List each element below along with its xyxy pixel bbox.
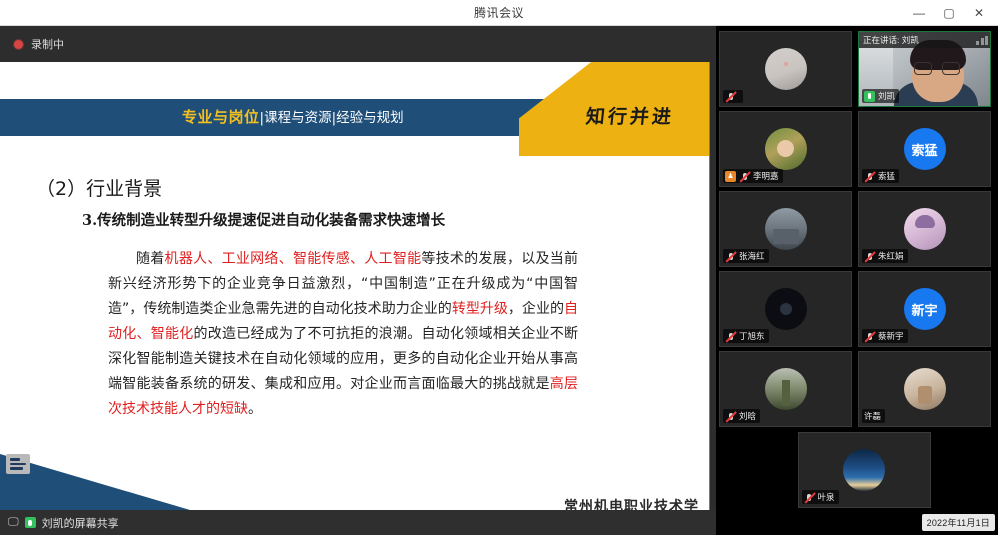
slide-banner-text: 专业与岗位|课程与资源|经验与规划 [182,106,404,127]
participant-tile[interactable]: 叶泉 [798,432,931,508]
close-button[interactable]: ✕ [964,0,994,26]
glasses-icon [914,62,960,75]
slide-paragraph: 随着机器人、工业网络、智能传感、人工智能等技术的发展，以及当前新兴经济形势下的企… [108,247,578,422]
participant-gallery: 正在讲话: 刘凯刘凯♟李明嘉索猛索猛张海红朱红娟丁旭东新宇蔡新宇刘晗许磊叶泉 2… [716,26,998,535]
participant-name: 叶泉 [818,491,835,503]
screen-share-icon: 🖵 [8,516,19,529]
shared-screen-area: 录制中 专业与岗位|课程与资源|经验与规划 知行并进 （2）行业背景 3.传统制… [0,26,716,535]
maximize-button[interactable]: ▢ [934,0,964,26]
slide-heading: （2）行业背景 [36,174,162,201]
avatar [904,208,946,250]
presentation-slide: 专业与岗位|课程与资源|经验与规划 知行并进 （2）行业背景 3.传统制造业转型… [0,62,710,510]
screen-share-owner-label: 刘凯的屏幕共享 [42,515,119,531]
host-badge-icon: ♟ [725,171,736,182]
participant-name-chip: 丁旭东 [723,329,769,343]
participant-name-chip: 刘凯 [862,89,899,103]
participant-name-chip: 叶泉 [802,490,839,504]
participant-tile[interactable] [719,31,852,107]
participant-name: 张海红 [739,250,765,262]
slide-text-run: 随着 [136,251,165,267]
recording-indicator-icon [14,40,23,49]
participant-tile[interactable]: 正在讲话: 刘凯刘凯 [858,31,991,107]
mic-on-icon [864,91,875,102]
tencent-meeting-window: 腾讯会议 — ▢ ✕ 录制中 专业与岗位|课程与资源|经验与规划 知行并进 （2… [0,0,998,535]
mic-muted-icon [804,492,815,503]
participant-name-chip: 许磊 [862,409,885,423]
avatar: 新宇 [904,288,946,330]
date-chip: 2022年11月1日 [922,514,995,531]
banner-rest-text: |课程与资源|经验与规划 [260,110,404,126]
participant-name-chip: ♟李明嘉 [723,169,783,183]
mic-muted-icon [864,251,875,262]
logo-text: 常州机电职业技术学院 CHANGZHOU VOCATIONAL INSTITUT… [564,496,709,510]
avatar: 索猛 [904,128,946,170]
participant-name-chip: 刘晗 [723,409,760,423]
mic-muted-icon [725,411,736,422]
mic-muted-icon [739,171,750,182]
slide-text-run: 。 [248,401,262,417]
window-controls: — ▢ ✕ [904,0,994,26]
participant-name-chip: 蔡新宇 [862,329,908,343]
mic-muted-icon [725,251,736,262]
screen-share-status-bar: 🖵 刘凯的屏幕共享 [0,510,716,535]
participant-tile[interactable]: 刘晗 [719,351,852,427]
participant-name: 许磊 [864,410,881,422]
avatar [765,48,807,90]
slide-text-highlight: 转型升级 [452,301,508,317]
active-speaker-label: 正在讲话: 刘凯 [863,34,919,46]
recording-label: 录制中 [31,36,64,52]
participant-name-chip: 朱红娟 [862,249,908,263]
mic-muted-icon [725,91,736,102]
network-signal-icon [976,36,988,45]
slide-text-highlight: 机器人、工业网络、智能传感、人工智能 [165,251,422,267]
avatar [843,449,885,491]
participant-tile[interactable]: ♟李明嘉 [719,111,852,187]
participant-name-chip: 索猛 [862,169,899,183]
recording-bar: 录制中 [0,26,716,62]
participant-tile[interactable]: 新宇蔡新宇 [858,271,991,347]
window-title: 腾讯会议 [474,4,524,21]
avatar [765,128,807,170]
logo-chinese-name: 常州机电职业技术学院 [564,496,709,510]
slide-text-run: ，企业的 [508,301,564,317]
banner-highlight-text: 专业与岗位 [182,108,260,126]
participant-tile[interactable]: 丁旭东 [719,271,852,347]
participant-name: 丁旭东 [739,330,765,342]
slide-menu-icon[interactable] [6,454,30,474]
participant-tile[interactable]: 索猛索猛 [858,111,991,187]
slide-calligraphy: 知行并进 [585,102,676,129]
meeting-body: 录制中 专业与岗位|课程与资源|经验与规划 知行并进 （2）行业背景 3.传统制… [0,26,998,535]
mic-on-icon [25,517,36,528]
title-bar: 腾讯会议 — ▢ ✕ [0,0,998,26]
participant-name: 李明嘉 [753,170,779,182]
avatar [765,288,807,330]
mic-muted-icon [864,171,875,182]
active-speaker-bar: 正在讲话: 刘凯 [859,32,991,48]
avatar [765,368,807,410]
participant-tile[interactable]: 张海红 [719,191,852,267]
slide-subheading: 3.传统制造业转型升级提速促进自动化装备需求快速增长 [82,209,445,230]
avatar [904,368,946,410]
school-logo: 常州机电职业技术学院 CHANGZHOU VOCATIONAL INSTITUT… [538,496,709,510]
avatar [765,208,807,250]
participant-name: 刘晗 [739,410,756,422]
participant-name: 朱红娟 [878,250,904,262]
minimize-button[interactable]: — [904,0,934,26]
participant-name: 蔡新宇 [878,330,904,342]
participant-tile[interactable]: 许磊 [858,351,991,427]
mic-muted-icon [725,331,736,342]
participant-name: 索猛 [878,170,895,182]
mic-muted-icon [864,331,875,342]
participant-name-chip [723,90,743,103]
participant-name: 刘凯 [878,90,895,102]
participant-tile[interactable]: 朱红娟 [858,191,991,267]
participant-name-chip: 张海红 [723,249,769,263]
